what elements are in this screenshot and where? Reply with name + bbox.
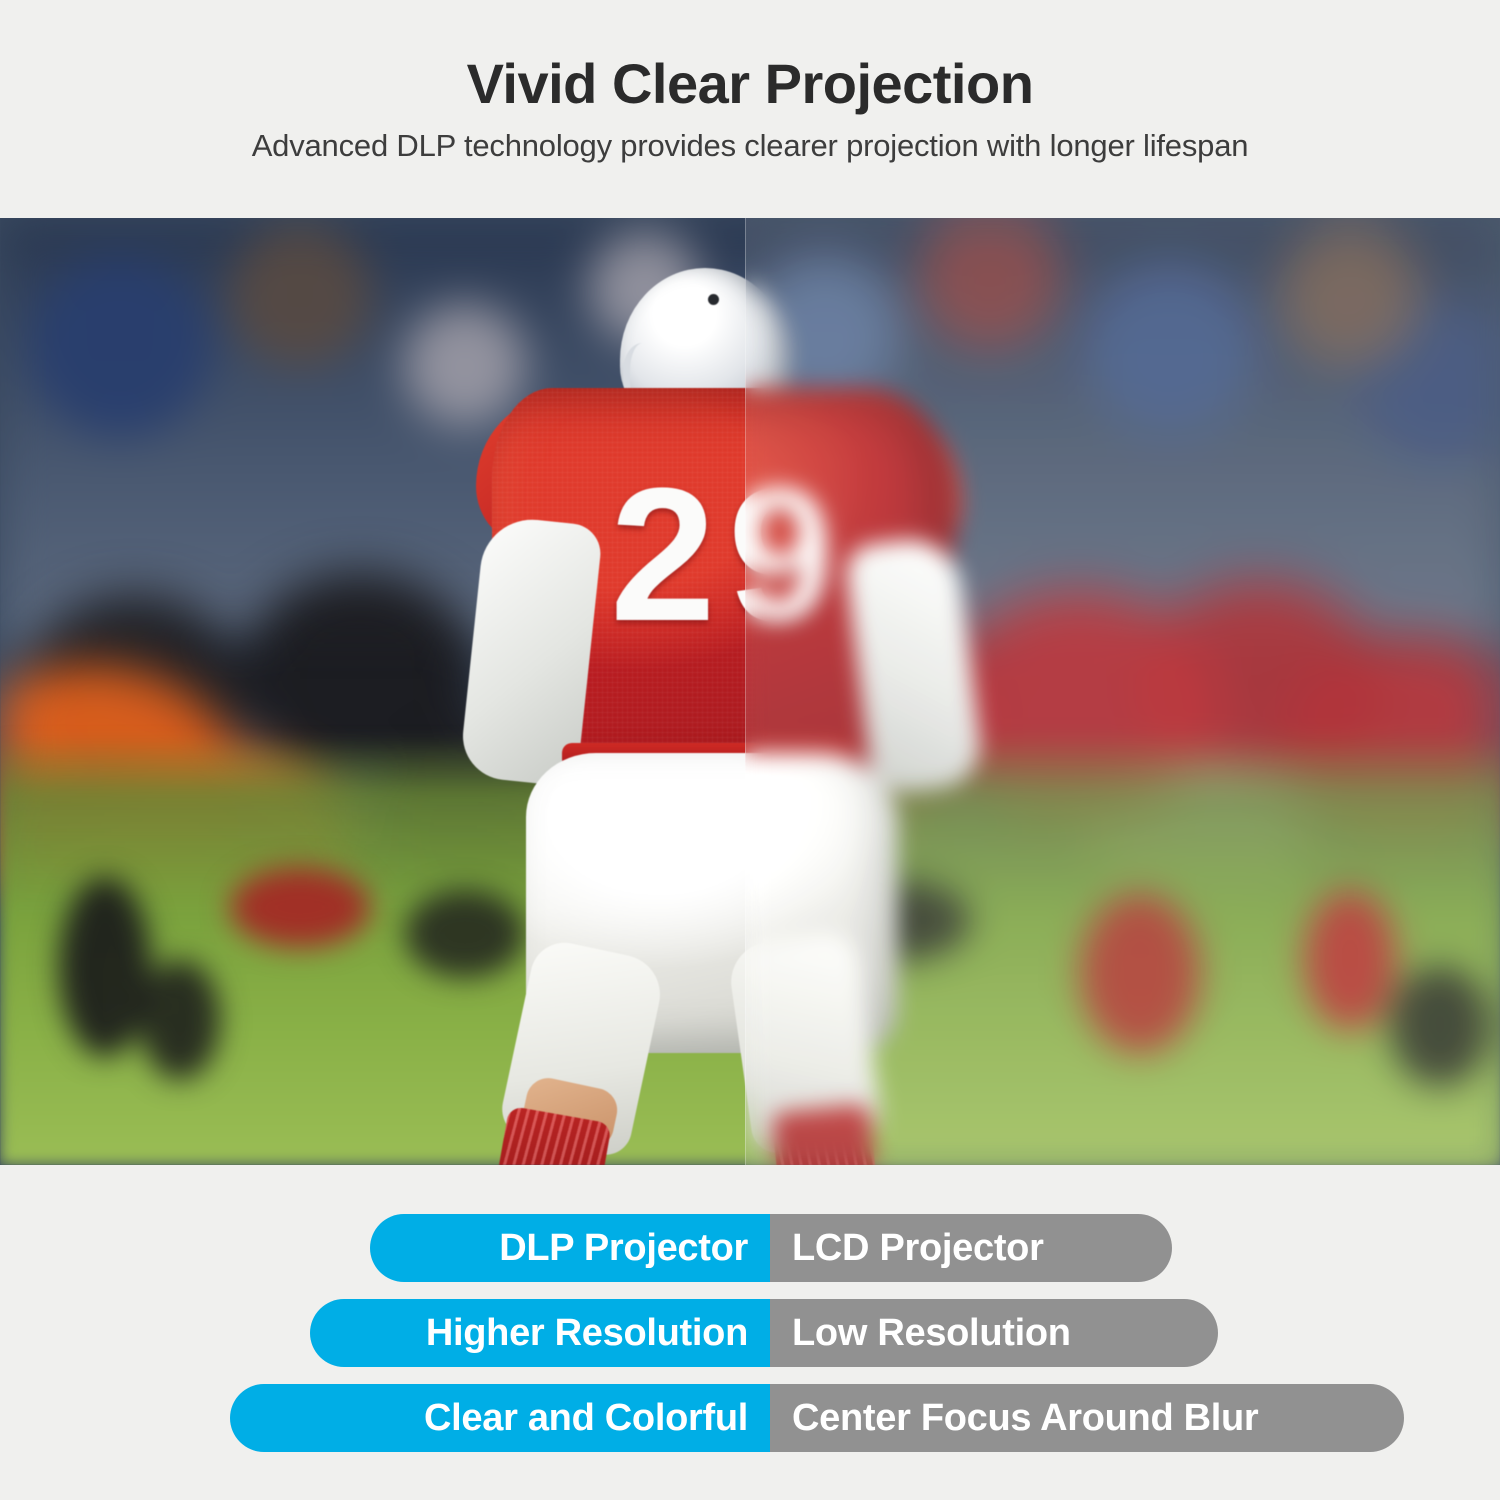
lcd-label-3: Center Focus Around Blur [770, 1384, 1404, 1452]
lcd-label-2: Low Resolution [770, 1299, 1218, 1367]
header-banner: Vivid Clear Projection Advanced DLP tech… [0, 0, 1500, 218]
comparison-row-1: DLP Projector LCD Projector [370, 1214, 1172, 1282]
helmet-vent-dot [708, 294, 719, 305]
dlp-label-2: Higher Resolution [310, 1299, 770, 1367]
jersey-number-first-digit: 2 [610, 460, 718, 650]
jersey-number-second-digit: 9 [728, 460, 836, 650]
comparison-table: DLP Projector LCD Projector Higher Resol… [0, 1165, 1500, 1500]
sock-right [771, 1103, 879, 1165]
sock-right-ribbing [771, 1103, 879, 1165]
comparison-row-2: Higher Resolution Low Resolution [310, 1299, 1218, 1367]
comparison-photo: 2 9 [0, 218, 1500, 1165]
football-scene: 2 9 [0, 218, 1500, 1165]
page-subtitle: Advanced DLP technology provides clearer… [252, 128, 1249, 164]
comparison-row-3: Clear and Colorful Center Focus Around B… [230, 1384, 1404, 1452]
lcd-label-1: LCD Projector [770, 1214, 1172, 1282]
foreground-player: 2 9 [430, 248, 990, 1165]
promo-page: Vivid Clear Projection Advanced DLP tech… [0, 0, 1500, 1500]
dlp-label-1: DLP Projector [370, 1214, 770, 1282]
dlp-label-3: Clear and Colorful [230, 1384, 770, 1452]
page-title: Vivid Clear Projection [467, 54, 1034, 113]
